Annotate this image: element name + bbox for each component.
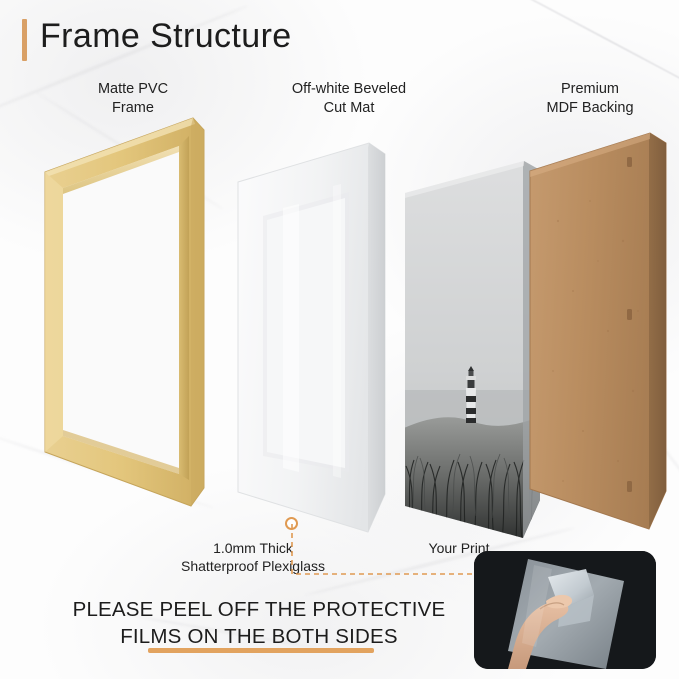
mat-board-part — [237, 142, 387, 534]
lighthouse-print-svg — [404, 160, 541, 540]
page-title: Frame Structure — [40, 17, 292, 56]
label-backing: Premium MDF Backing — [510, 80, 670, 118]
print-part — [404, 160, 541, 540]
mat-board-svg — [237, 142, 387, 534]
label-frame: Matte PVC Frame — [65, 80, 201, 118]
title-accent-bar — [22, 19, 27, 61]
peel-notice-underline — [148, 648, 374, 653]
pvc-frame-part — [43, 116, 206, 508]
pvc-frame-svg — [43, 116, 206, 508]
peel-notice: PLEASE PEEL OFF THE PROTECTIVE FILMS ON … — [44, 596, 474, 650]
mdf-backing-part — [528, 131, 668, 531]
peel-notice-line2: FILMS ON THE BOTH SIDES — [44, 623, 474, 650]
mdf-backing-svg — [528, 131, 668, 531]
peel-notice-line1: PLEASE PEEL OFF THE PROTECTIVE — [44, 596, 474, 623]
frame-structure-infographic: Frame Structure Matte PVC Frame Off-whit… — [0, 0, 679, 679]
label-mat: Off-white Beveled Cut Mat — [256, 80, 442, 118]
hand-peeling-film-svg — [474, 551, 656, 669]
hand-peeling-film-photo — [474, 551, 656, 669]
